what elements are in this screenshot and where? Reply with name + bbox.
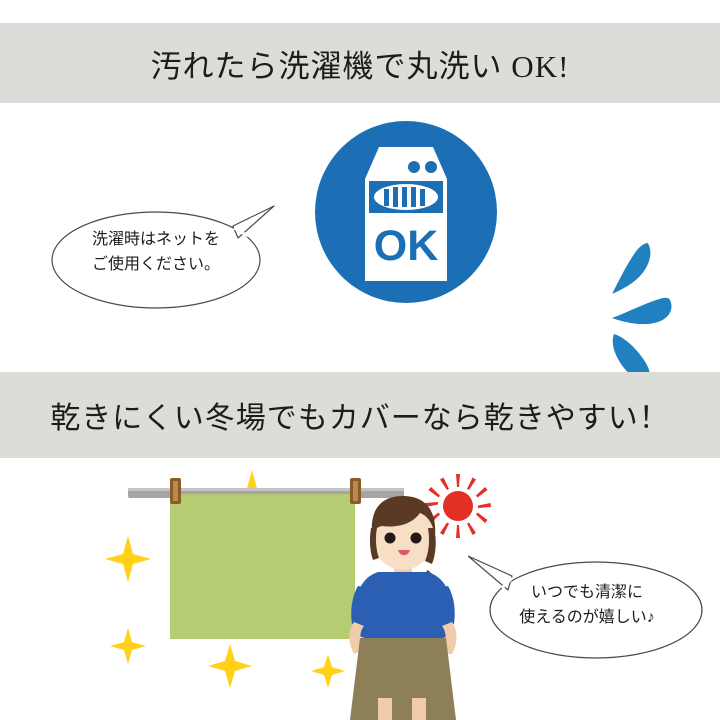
drying-bubble-text: いつでも清潔に 使えるのが嬉しい♪ bbox=[484, 580, 690, 630]
washing-heading-text: 汚れたら洗濯機で丸洗い OK! bbox=[151, 41, 570, 86]
washing-machine-badge: OK bbox=[315, 121, 497, 303]
washing-machine-ok-icon: OK bbox=[355, 145, 457, 285]
infographic-page: 汚れたら洗濯機で丸洗い OK! bbox=[0, 0, 720, 720]
drying-heading-band: 乾きにくい冬場でもカバーなら乾きやすい！ bbox=[0, 372, 720, 458]
drying-heading-text: 乾きにくい冬場でもカバーなら乾きやすい！ bbox=[50, 393, 669, 437]
washer-ok-label: OK bbox=[374, 222, 439, 270]
woman-illustration bbox=[350, 496, 457, 720]
washing-speech-bubble: 洗濯時はネットを ご使用ください。 bbox=[48, 200, 270, 308]
washing-heading-band: 汚れたら洗濯機で丸洗い OK! bbox=[0, 23, 720, 103]
washing-bubble-text: 洗濯時はネットを ご使用ください。 bbox=[54, 227, 258, 277]
clothespin-icon-right bbox=[350, 478, 361, 504]
drying-speech-bubble: いつでも清潔に 使えるのが嬉しい♪ bbox=[468, 548, 700, 660]
water-splash-icon bbox=[590, 238, 680, 383]
clothespin-icon-left bbox=[170, 478, 181, 504]
hanging-cover-cloth bbox=[170, 494, 355, 639]
